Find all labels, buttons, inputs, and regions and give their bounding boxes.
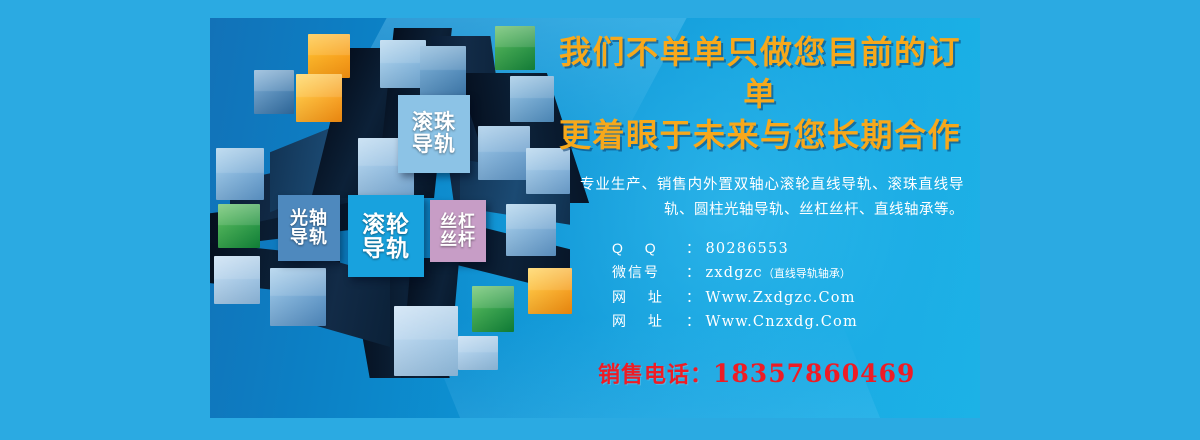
contact-separator: ： [686, 261, 706, 284]
contact-key: 网 址 [612, 286, 686, 309]
banner-copy: 我们不单单只做您目前的订单 更着眼于未来与您长期合作 专业生产、销售内外置双轴心… [550, 32, 970, 389]
cube-green [495, 26, 535, 70]
cube-bottom-pale [394, 306, 458, 376]
cube-bottom-small [458, 336, 498, 370]
sales-phone-number[interactable]: 18357860469 [713, 359, 915, 388]
description-text: 专业生产、销售内外置双轴心滚轮直线导轨、滚珠直线导轨、圆柱光轴导轨、丝杠丝杆、直… [550, 173, 970, 223]
cube-steel [420, 46, 466, 96]
contact-separator: ： [686, 237, 706, 260]
contact-separator: ： [686, 286, 706, 309]
contact-note: （直线导轨轴承） [763, 265, 851, 283]
product-label-gunlun-daogui[interactable]: 滚轮 导轨 [348, 195, 424, 277]
contact-value[interactable]: 80286553 [706, 238, 789, 261]
cube-pale-2 [214, 256, 260, 304]
promo-banner: 滚珠 导轨 光轴 导轨 滚轮 导轨 丝杠 丝杆 我们不单单只做您目前的订单 更着… [210, 18, 980, 418]
product-label-line2: 导轨 [290, 228, 328, 247]
cube-center-blue [478, 126, 530, 180]
headline-line-2: 更着眼于未来与您长期合作 [550, 115, 970, 157]
sales-phone-label: 销售电话： [598, 357, 713, 389]
cube-bottom-blue [270, 268, 326, 326]
cube-right-blue [506, 204, 556, 256]
cube-orange [308, 34, 350, 78]
cube-blue-soft [216, 148, 264, 200]
cube-green-2 [218, 204, 260, 248]
contact-row-wechat: 微信号 ： zxdgzc （直线导轨轴承） [612, 261, 970, 285]
sales-phone: 销售电话： 18357860469 [550, 357, 970, 389]
product-label-line1: 滚珠 [412, 112, 456, 134]
product-label-line1: 丝杠 [440, 213, 476, 231]
headline: 我们不单单只做您目前的订单 更着眼于未来与您长期合作 [550, 32, 970, 157]
contact-key: Q Q [612, 237, 686, 260]
contact-value[interactable]: Www.Zxdgzc.Com [706, 287, 856, 310]
product-label-line1: 滚轮 [362, 212, 410, 236]
cube-burst-artwork: 滚珠 导轨 光轴 导轨 滚轮 导轨 丝杠 丝杆 [210, 18, 570, 418]
contact-row-qq: Q Q ： 80286553 [612, 237, 970, 261]
cube-blue-mid [510, 76, 554, 122]
product-label-guangzhou-daogui[interactable]: 光轴 导轨 [278, 195, 340, 261]
product-label-line2: 丝杆 [440, 231, 476, 249]
headline-line-1: 我们不单单只做您目前的订单 [550, 32, 970, 115]
product-label-line2: 导轨 [412, 134, 456, 156]
contact-row-website-1: 网 址 ： Www.Zxdgzc.Com [612, 286, 970, 310]
contact-key: 微信号 [612, 261, 686, 284]
contact-key: 网 址 [612, 310, 686, 333]
cube-blue-dark [254, 70, 294, 114]
product-label-line2: 导轨 [362, 236, 410, 260]
product-label-sigang-sigan[interactable]: 丝杠 丝杆 [430, 200, 486, 262]
product-label-line1: 光轴 [290, 209, 328, 228]
contact-value[interactable]: Www.Cnzxdg.Com [706, 311, 858, 334]
product-label-gunzhu-daogui[interactable]: 滚珠 导轨 [398, 95, 470, 173]
contact-row-website-2: 网 址 ： Www.Cnzxdg.Com [612, 310, 970, 334]
cube-orange-2 [296, 74, 342, 122]
contact-separator: ： [686, 310, 706, 333]
cube-bottom-green [472, 286, 514, 332]
contact-list: Q Q ： 80286553 微信号 ： zxdgzc （直线导轨轴承） 网 址… [550, 237, 970, 335]
contact-value[interactable]: zxdgzc [706, 262, 763, 285]
banner-page: 滚珠 导轨 光轴 导轨 滚轮 导轨 丝杠 丝杆 我们不单单只做您目前的订单 更着… [0, 0, 1200, 440]
